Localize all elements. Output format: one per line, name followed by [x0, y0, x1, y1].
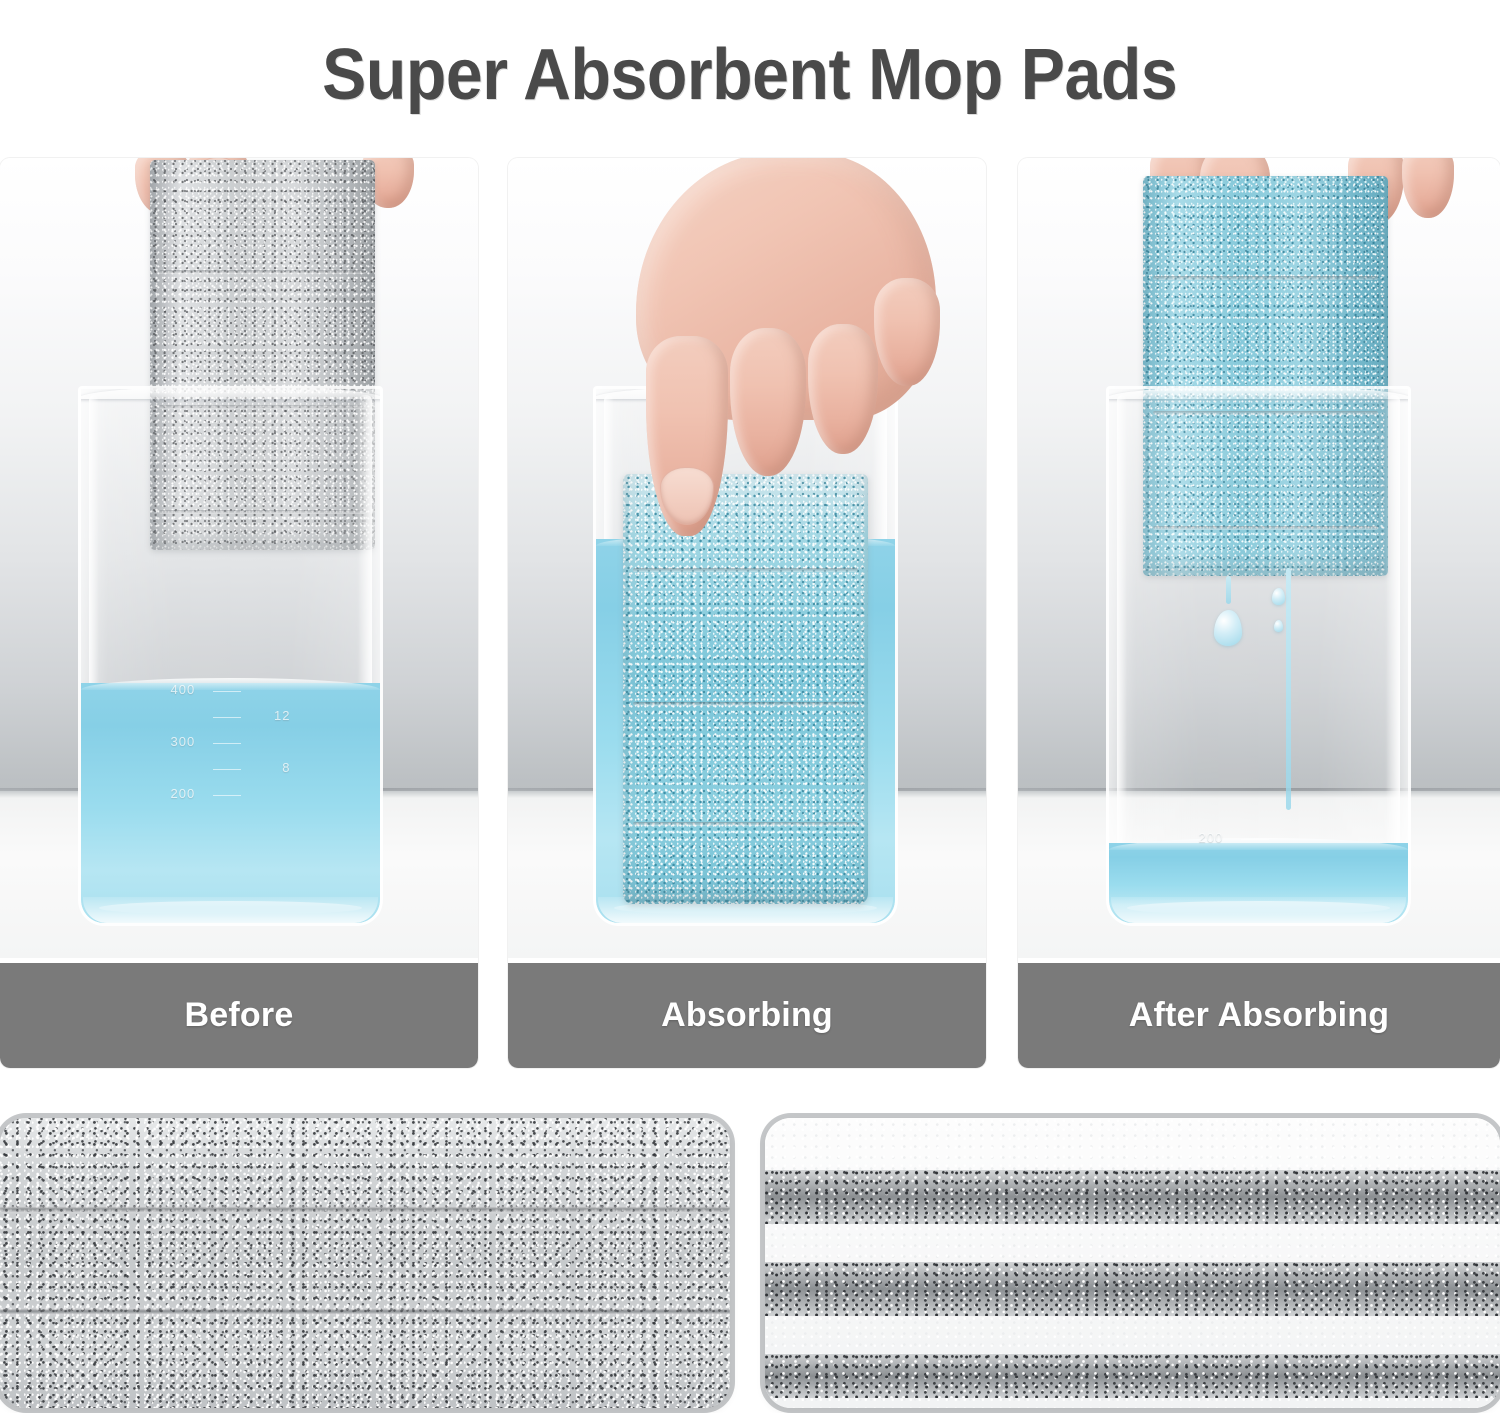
- panel-after-absorbing: 200 After Absorbing: [1018, 158, 1500, 1068]
- water-drop-icon: [1214, 610, 1242, 646]
- panel-label: Before: [185, 996, 294, 1035]
- product-pads-row: [0, 1110, 1500, 1413]
- pad-seam: [0, 1308, 730, 1315]
- label-bar-absorbing: Absorbing: [508, 963, 986, 1068]
- product-pad-striped: [765, 1118, 1500, 1408]
- product-pad-gray: [0, 1118, 730, 1408]
- pad-stripe: [765, 1170, 1500, 1224]
- panel-before: 400 12 300 8 200 Before: [0, 158, 478, 1068]
- mop-pad-absorbing: [623, 474, 868, 904]
- label-bar-after-absorbing: After Absorbing: [1018, 963, 1500, 1068]
- finger-ring: [1402, 158, 1454, 218]
- title-banner: Super Absorbent Mop Pads: [0, 0, 1500, 150]
- measuring-cup: 200: [1106, 386, 1411, 926]
- photo-absorbing: [508, 158, 986, 958]
- pad-seam: [0, 1206, 730, 1213]
- cup-graduations: 400 12 300 8 200: [171, 689, 291, 819]
- cup-graduations: 200: [1199, 837, 1319, 863]
- page-title: Super Absorbent Mop Pads: [322, 34, 1177, 116]
- photo-before: 400 12 300 8 200: [0, 158, 478, 958]
- panel-label: Absorbing: [661, 996, 833, 1035]
- comparison-panels: 400 12 300 8 200 Before: [0, 158, 1500, 1068]
- panel-absorbing: Absorbing: [508, 158, 986, 1068]
- finger-thumb: [874, 278, 940, 386]
- photo-after-absorbing: 200: [1018, 158, 1500, 958]
- pad-stripe: [765, 1262, 1500, 1316]
- panel-label: After Absorbing: [1129, 996, 1390, 1035]
- water-drop-icon: [1274, 620, 1283, 632]
- measuring-cup: 400 12 300 8 200: [78, 386, 383, 926]
- infographic-root: Super Absorbent Mop Pads: [0, 0, 1500, 1413]
- pad-stripe: [765, 1354, 1500, 1398]
- water-stream-icon: [1286, 568, 1291, 810]
- label-bar-before: Before: [0, 963, 478, 1068]
- water-stream-icon: [1226, 576, 1231, 604]
- gray-microfiber-texture: [0, 1118, 730, 1408]
- water-drop-icon: [1272, 588, 1285, 605]
